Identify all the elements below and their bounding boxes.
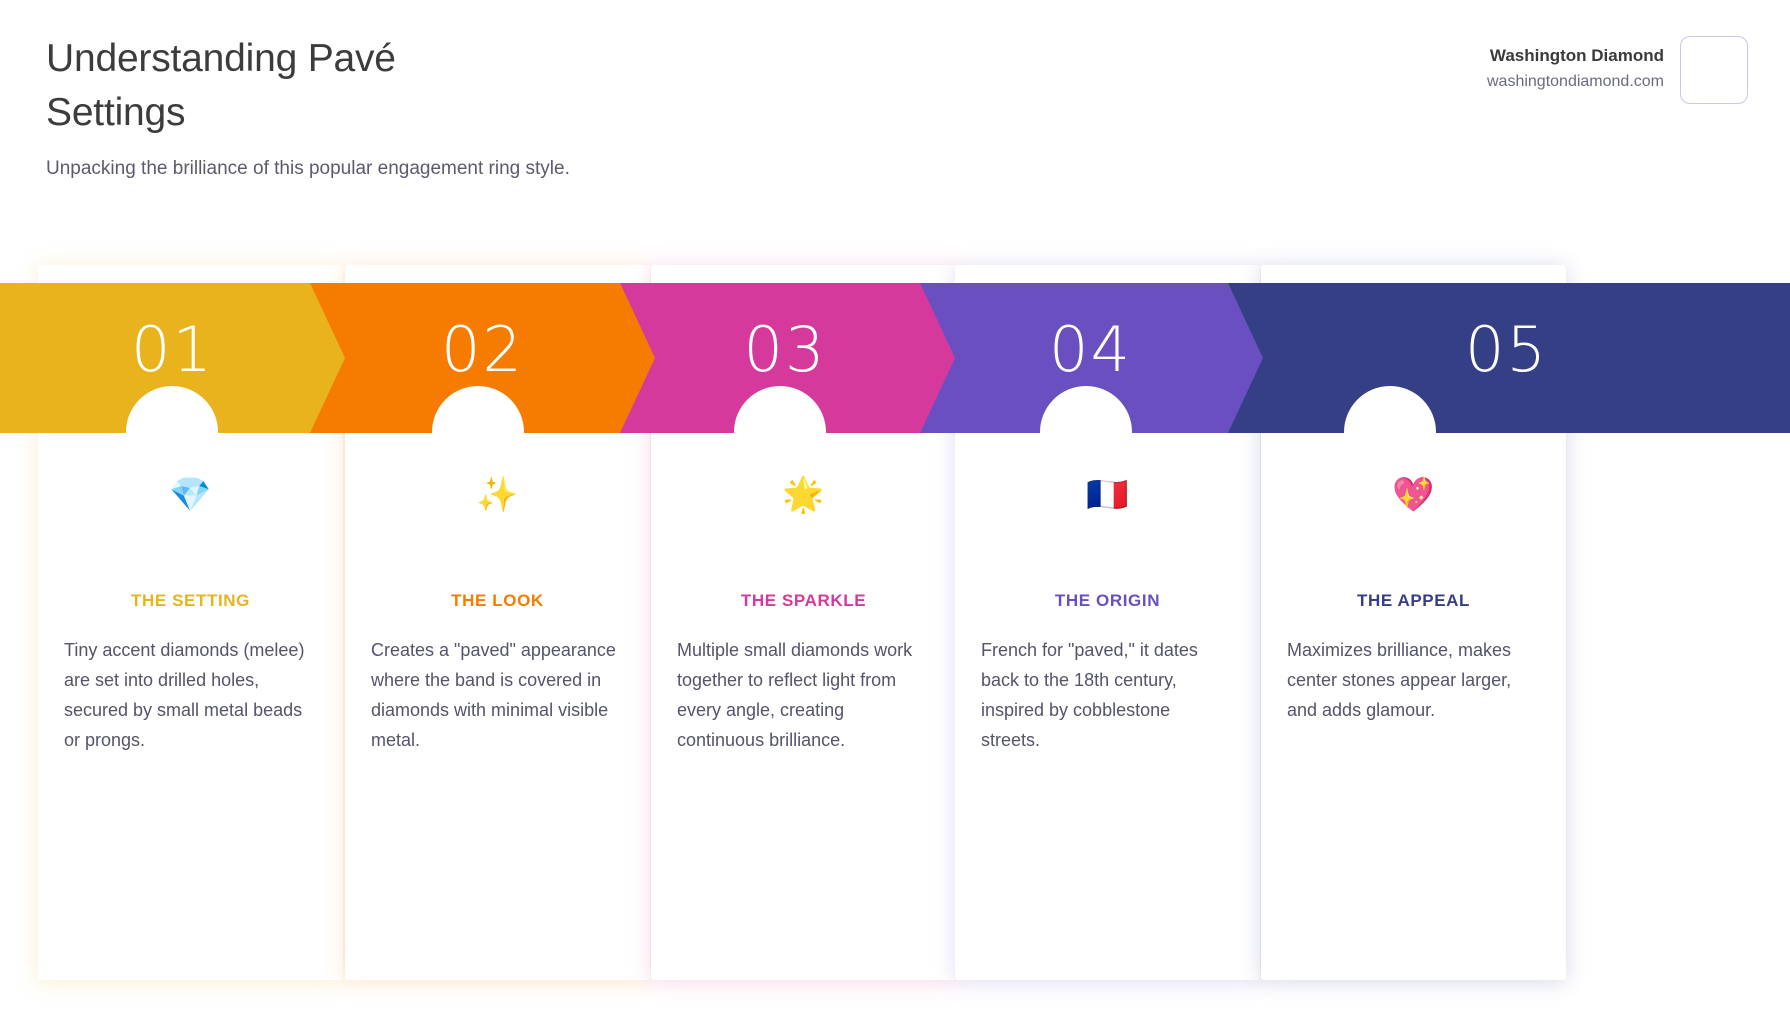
page-title-line-2: Settings	[46, 86, 726, 140]
chevron-step-05[interactable]: 05	[1223, 283, 1790, 433]
gem-stone-icon: 💎	[169, 475, 211, 519]
step-body-text: Creates a "paved" appearance where the b…	[371, 635, 624, 755]
chevron-notch	[1344, 386, 1436, 434]
chevron-notch	[432, 386, 524, 434]
brand-url[interactable]: washingtondiamond.com	[1487, 70, 1664, 94]
chevron-step-band: 0102030405	[0, 283, 1790, 433]
step-heading: THE APPEAL	[1357, 591, 1470, 611]
glowing-star-icon: 🌟	[782, 475, 824, 519]
step-heading: THE LOOK	[451, 591, 544, 611]
france-flag-icon: 🇫🇷	[1086, 475, 1128, 519]
chevron-step-02[interactable]: 02	[310, 283, 655, 433]
chevron-step-number: 01	[131, 319, 214, 381]
step-body-text: Multiple small diamonds work together to…	[677, 635, 930, 755]
chevron-step-number: 05	[1465, 319, 1548, 381]
chevron-step-03[interactable]: 03	[615, 283, 955, 433]
page-title: Understanding Pavé Settings	[46, 32, 726, 140]
chevron-notch	[734, 386, 826, 434]
brand-logo-placeholder	[1680, 36, 1748, 104]
brand-block: Washington Diamond washingtondiamond.com	[1487, 36, 1748, 104]
chevron-step-01[interactable]: 01	[0, 283, 345, 433]
step-body-text: Maximizes brilliance, makes center stone…	[1287, 635, 1540, 725]
step-body-text: Tiny accent diamonds (melee) are set int…	[64, 635, 317, 755]
brand-text: Washington Diamond washingtondiamond.com	[1487, 36, 1664, 94]
page-header: Understanding Pavé Settings Unpacking th…	[0, 0, 1790, 200]
brand-name: Washington Diamond	[1487, 44, 1664, 68]
step-card-content: ✨THE LOOKCreates a "paved" appearance wh…	[345, 475, 650, 755]
chevron-step-04[interactable]: 04	[918, 283, 1263, 433]
chevron-notch	[1040, 386, 1132, 434]
step-heading: THE ORIGIN	[1055, 591, 1160, 611]
chevron-step-number: 03	[744, 319, 827, 381]
step-body-text: French for "paved," it dates back to the…	[981, 635, 1234, 755]
sparkles-icon: ✨	[476, 475, 518, 519]
step-heading: THE SPARKLE	[741, 591, 866, 611]
page-subtitle: Unpacking the brilliance of this popular…	[46, 158, 570, 180]
page-title-line-1: Understanding Pavé	[46, 32, 726, 86]
chevron-step-number: 04	[1049, 319, 1132, 381]
step-card-content: 💎THE SETTINGTiny accent diamonds (melee)…	[38, 475, 343, 755]
step-card-content: 🇫🇷THE ORIGINFrench for "paved," it dates…	[955, 475, 1260, 755]
step-card-content: 🌟THE SPARKLEMultiple small diamonds work…	[651, 475, 956, 755]
chevron-step-number: 02	[441, 319, 524, 381]
step-heading: THE SETTING	[131, 591, 250, 611]
sparkling-heart-icon: 💖	[1392, 475, 1434, 519]
chevron-notch	[126, 386, 218, 434]
step-card-content: 💖THE APPEALMaximizes brilliance, makes c…	[1261, 475, 1566, 725]
